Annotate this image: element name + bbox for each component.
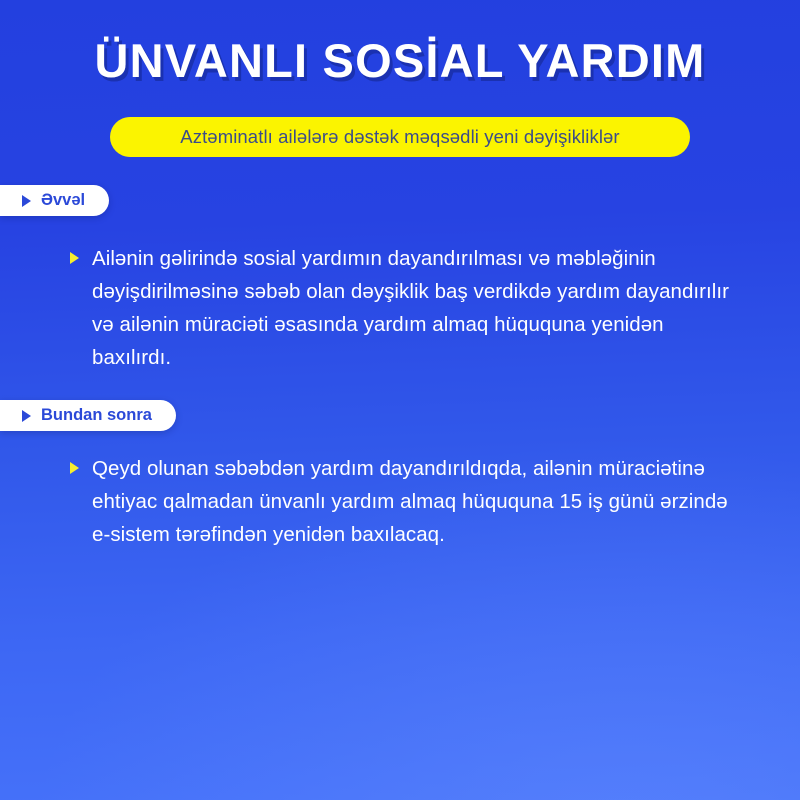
section-evvel-body: Ailənin gəlirində sosial yardımın dayand… bbox=[70, 242, 730, 374]
triangle-right-icon bbox=[22, 410, 31, 422]
tab-evvel-label: Əvvəl bbox=[41, 191, 85, 210]
section-bundan-sonra-text: Qeyd olunan səbəbdən yardım dayandırıldı… bbox=[92, 452, 730, 551]
tab-evvel[interactable]: Əvvəl bbox=[0, 185, 109, 216]
subtitle-pill: Aztəminatlı ailələrə dəstək məqsədli yen… bbox=[110, 117, 690, 157]
page-title: ÜNVANLI SOSİAL YARDIM bbox=[0, 36, 800, 85]
subtitle-text: Aztəminatlı ailələrə dəstək məqsədli yen… bbox=[180, 126, 619, 148]
triangle-right-icon bbox=[22, 195, 31, 207]
triangle-right-icon bbox=[70, 462, 79, 474]
tab-bundan-sonra-label: Bundan sonra bbox=[41, 406, 152, 425]
tab-bundan-sonra[interactable]: Bundan sonra bbox=[0, 400, 176, 431]
triangle-right-icon bbox=[70, 252, 79, 264]
section-bundan-sonra-body: Qeyd olunan səbəbdən yardım dayandırıldı… bbox=[70, 452, 730, 551]
section-evvel-text: Ailənin gəlirində sosial yardımın dayand… bbox=[92, 242, 730, 374]
infographic-poster: ÜNVANLI SOSİAL YARDIM Aztəminatlı ailələ… bbox=[0, 0, 800, 800]
